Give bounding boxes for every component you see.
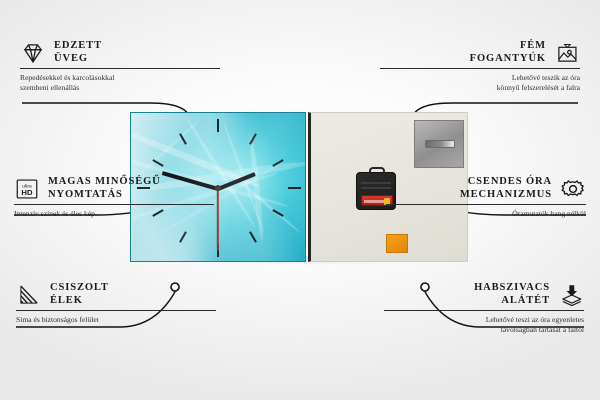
hanger-slot: [425, 140, 455, 148]
callout-title-line: CSISZOLT: [50, 282, 109, 295]
clock-hand-hub: [215, 185, 221, 191]
callout-tempered-glass: EDZETT ÜVEG Repedésekkel és karcolásokka…: [20, 40, 220, 92]
callout-foam-backing: HABSZIVACS ALÁTÉT Lehetővé teszi az óra …: [384, 282, 584, 334]
callout-metal-handles: FÉM FOGANTYÚK Lehetővé teszik az óra kön…: [380, 40, 580, 92]
metal-hanger: [414, 120, 464, 168]
callout-title-line: NYOMTATÁS: [48, 189, 161, 202]
polished-edge-icon: [16, 283, 42, 307]
foam-layers-arrow-icon: [558, 283, 584, 307]
callout-description: Lehetővé teszi az óra egyenletes távolsá…: [384, 315, 584, 334]
callout-divider: [16, 310, 216, 311]
callout-silent-movement: CSENDES ÓRA MECHANIZMUS Óramutatók hang …: [386, 176, 586, 219]
callout-divider: [386, 204, 586, 205]
callout-description: Sima és biztonságos felület: [16, 315, 216, 325]
callout-title-line: FOGANTYÚK: [470, 53, 546, 66]
callout-divider: [14, 204, 214, 205]
mechanism-hook: [369, 167, 385, 175]
svg-text:HD: HD: [21, 188, 33, 197]
callout-title-line: HABSZIVACS: [474, 282, 550, 295]
callout-description: Óramutatók hang nélkül: [386, 209, 586, 219]
callout-title-line: ALÁTÉT: [501, 295, 550, 308]
callout-title-line: ÜVEG: [54, 53, 102, 66]
battery-stripe: [364, 200, 384, 203]
callout-high-quality-print: ultra HD MAGAS MINŐSÉGŰ NYOMTATÁS Intenz…: [14, 176, 214, 219]
picture-frame-hanger-icon: [554, 41, 580, 65]
ultra-hd-icon: ultra HD: [14, 177, 40, 201]
callout-title-line: EDZETT: [54, 40, 102, 53]
callout-polished-edges: CSISZOLT ÉLEK Sima és biztonságos felüle…: [16, 282, 216, 325]
callout-description: Lehetővé teszik az óra könnyű felszerelé…: [380, 73, 580, 92]
clock-second-hand: [217, 189, 219, 251]
callout-divider: [20, 68, 220, 69]
callout-title-line: MECHANIZMUS: [460, 189, 552, 202]
gear-icon: [560, 177, 586, 201]
callout-description: Intenzív színek és éles kép: [14, 209, 214, 219]
infographic-canvas: EDZETT ÜVEG Repedésekkel és karcolásokka…: [0, 0, 600, 400]
callout-title-line: MAGAS MINŐSÉGŰ: [48, 176, 161, 189]
callout-description: Repedésekkel és karcolásokkal szembeni e…: [20, 73, 220, 92]
callout-title-line: ÉLEK: [50, 295, 109, 308]
callout-divider: [380, 68, 580, 69]
diamond-icon: [20, 41, 46, 65]
callout-title-line: FÉM: [520, 40, 546, 53]
callout-title-line: CSENDES ÓRA: [468, 176, 552, 189]
foam-pad: [386, 234, 408, 253]
callout-divider: [384, 310, 584, 311]
